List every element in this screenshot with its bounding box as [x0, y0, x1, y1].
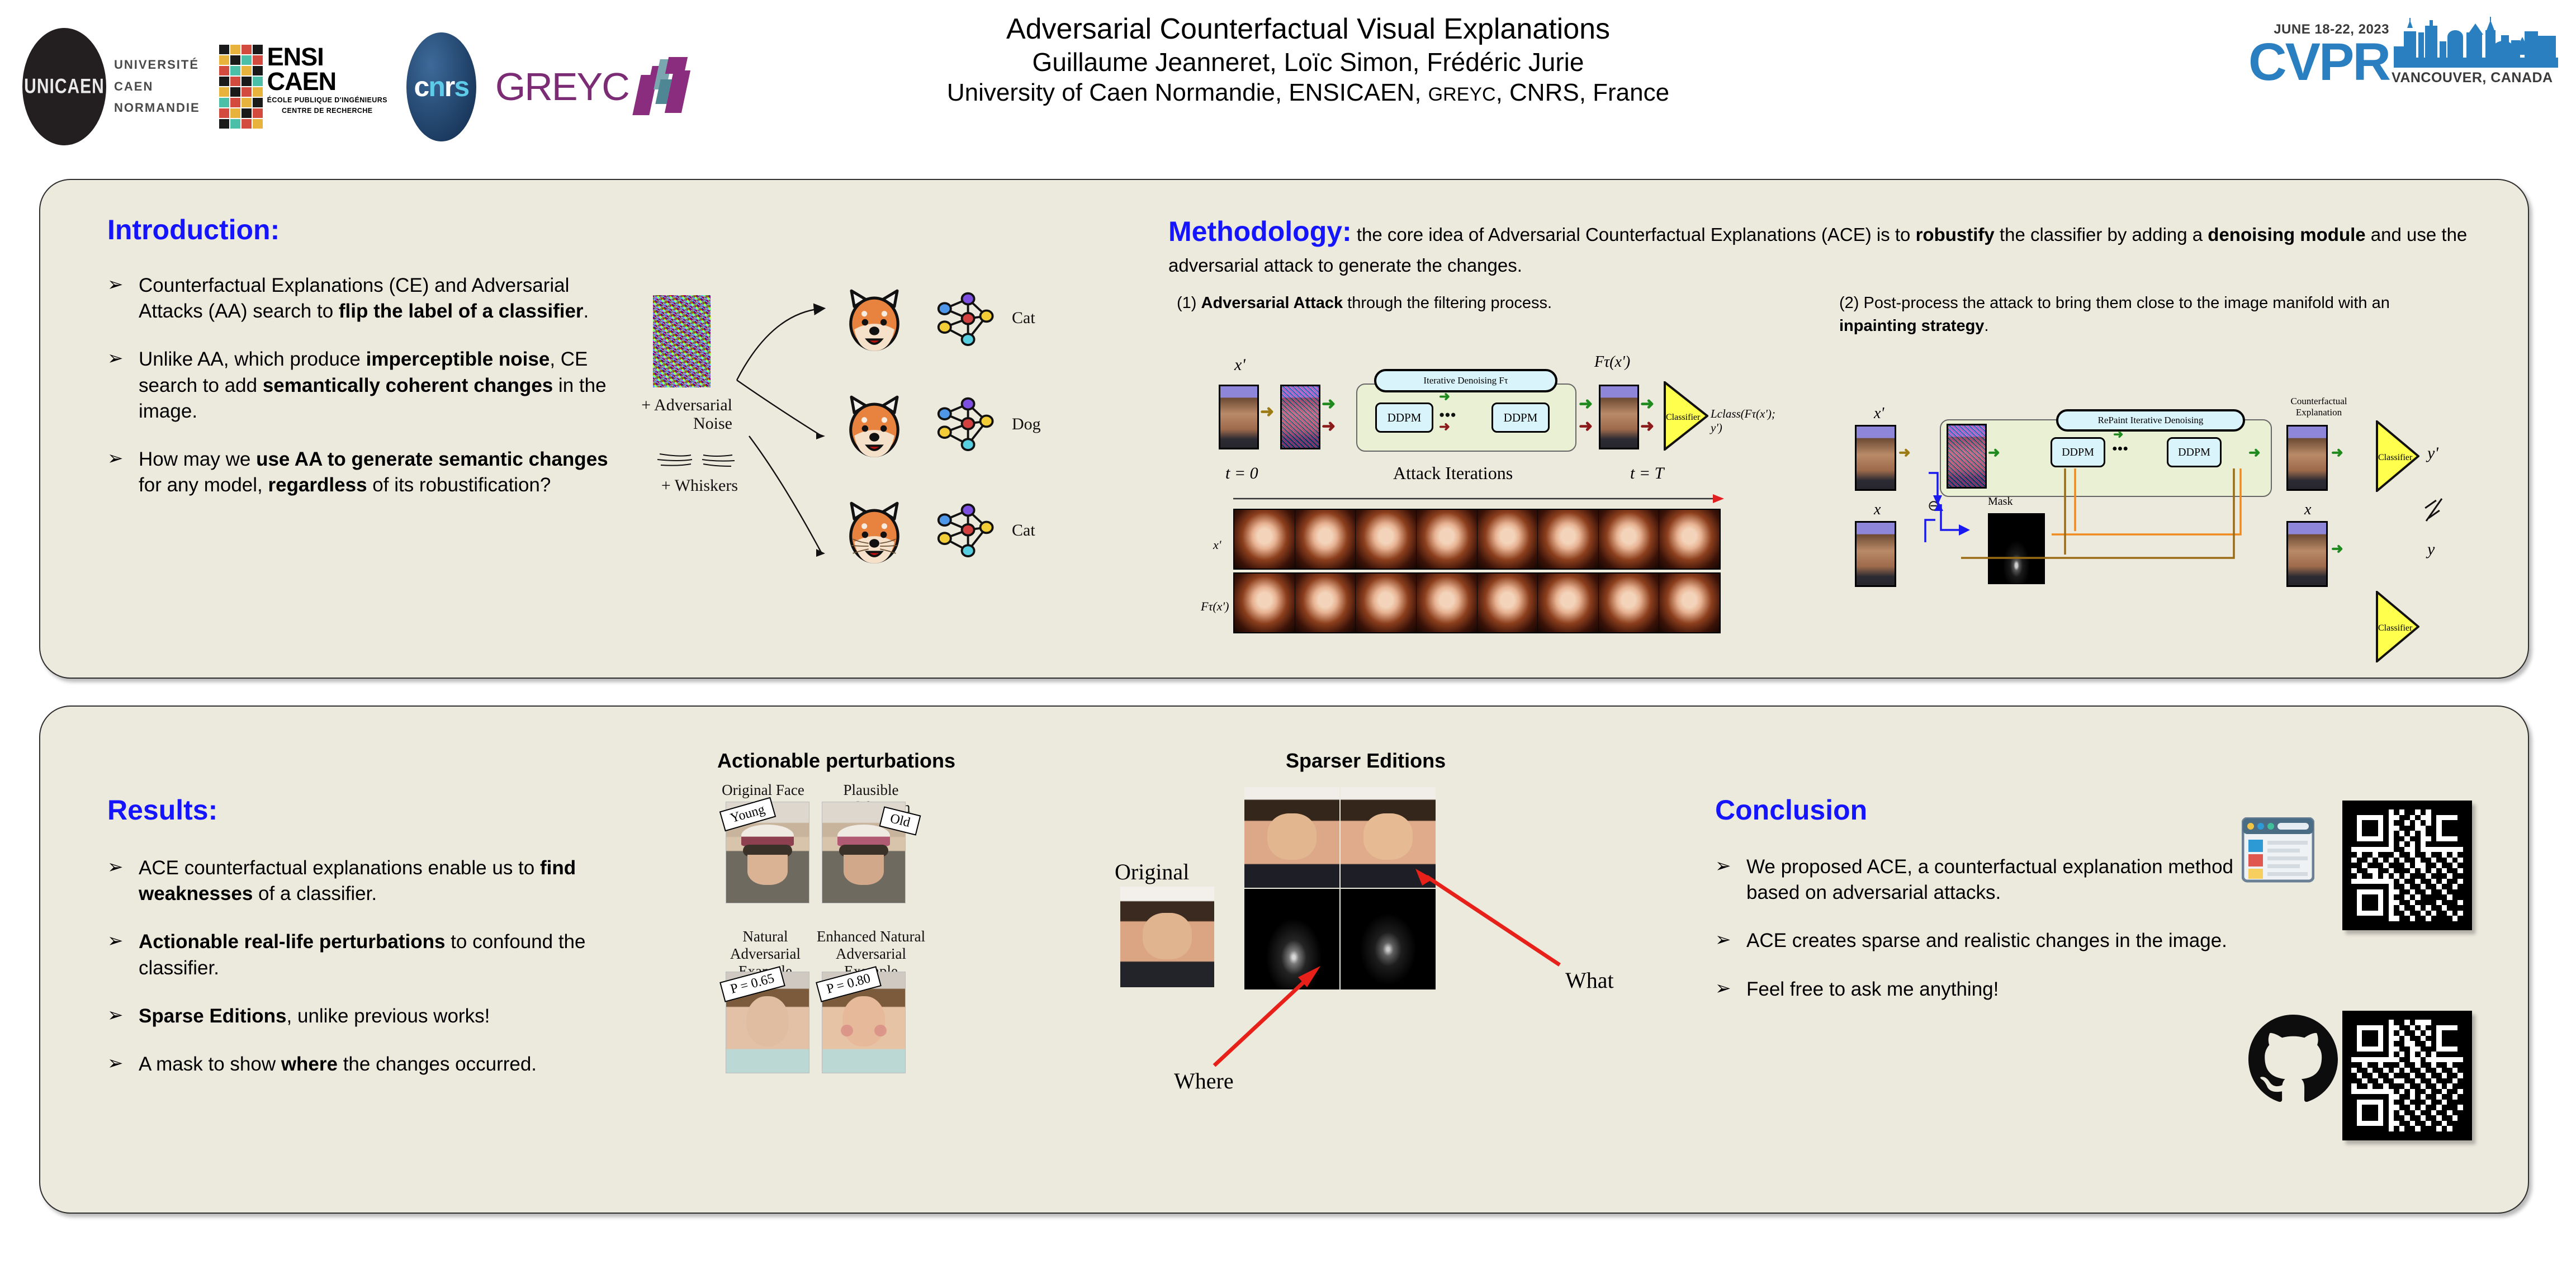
arrow-left-icon: ➜ [1579, 418, 1593, 435]
sparser-figure: Original What Where [1107, 777, 1677, 1191]
arrow-right-icon: ➜ [2331, 541, 2343, 556]
actionable-grid: Original Face Young Plausible Modificati… [721, 782, 1068, 1206]
list-item: ➢ACE creates sparse and realistic change… [1712, 928, 2243, 954]
attack-iterations-row-1 [1233, 509, 1721, 570]
logo-row: UNICAEN UNIVERSITÉ CAEN NORMANDIE ENSI [22, 28, 694, 145]
shiba-dog-face-with-whiskers-icon [839, 498, 910, 569]
shiba-dog-face-icon [839, 391, 910, 463]
methodology-lead-bold-1: robustify [1916, 224, 1995, 245]
sparser-heading: Sparser Editions [1286, 749, 1446, 773]
cell-caption-1: Original Face [721, 782, 805, 799]
step-2-number: (2) [1839, 294, 1864, 312]
diagram1-panel-title: Iterative Denoising Fτ [1374, 369, 1557, 392]
methodology-step-2: (2) Post-process the attack to bring the… [1839, 292, 2454, 337]
where-label: Where [1174, 1068, 1234, 1094]
list-item: ➢Sparse Editions, unlike previous works! [104, 1003, 652, 1029]
cnrs-wordmark: cnrs [414, 70, 469, 103]
methodology-lead-1: the core idea of Adversarial Counterfact… [1357, 224, 1916, 245]
project-webpage-qr-code[interactable] [2342, 801, 2472, 930]
list-item: ➢How may we use AA to generate semantic … [104, 447, 629, 498]
ddpm-block: DDPM [2167, 437, 2222, 467]
ddpm-block: DDPM [2051, 437, 2105, 467]
bullet-text: ACE creates sparse and realistic changes… [1746, 930, 2227, 951]
step-2-bold: inpainting strategy [1839, 317, 1984, 335]
methodology-heading: Methodology: [1168, 216, 1352, 247]
affiliation-post: , CNRS, France [1496, 79, 1670, 106]
ddpm-block: DDPM [1375, 402, 1433, 433]
neural-network-icon [934, 288, 995, 351]
unicaen-line-1: UNIVERSITÉ [114, 54, 200, 76]
adversarial-noise-image [653, 295, 711, 387]
ddpm-block: DDPM [1491, 402, 1550, 433]
list-item: ➢Counterfactual Explanations (CE) and Ad… [104, 273, 629, 324]
introduction-figure: + Adversarial Noise + Whiskers [643, 280, 1135, 615]
dog-image-row-1 [839, 285, 910, 359]
step-1-number: (1) [1177, 294, 1201, 312]
diagram1-ellipsis: ●●● [1439, 409, 1456, 420]
bullet-text: ACE counterfactual explanations enable u… [139, 857, 576, 905]
cvpr-city: VANCOUVER, CANADA [2392, 70, 2553, 86]
arrow-right-icon: ➜ [1988, 445, 2000, 460]
actionable-heading: Actionable perturbations [717, 749, 955, 773]
diagram1-noisy-image [1280, 385, 1320, 449]
bullet-text: Unlike AA, which produce imperceptible n… [139, 348, 607, 422]
sparser-cf-image-1 [1244, 787, 1339, 888]
arrow-right-icon: ➜ [2248, 445, 2261, 460]
methodology-diagram-2: x' RePaint Iterative Denoising ➜ ➜ DDPM … [1845, 386, 2521, 598]
arrow-right-icon: ➜ [1322, 396, 1336, 413]
unicaen-logo: UNICAEN UNIVERSITÉ CAEN NORMANDIE [22, 28, 200, 145]
diagram2-input-image [1855, 425, 1896, 491]
bullet-text: Actionable real-life perturbations to co… [139, 931, 585, 978]
diagram2-input-label: x' [1874, 405, 1884, 423]
webpage-icon[interactable] [2242, 817, 2314, 883]
ensicaen-sub-1: ÉCOLE PUBLIQUE D'INGÉNIEURS [267, 96, 387, 104]
poster-title: Adversarial Counterfactual Visual Explan… [777, 12, 1839, 46]
whiskers-label: + Whiskers [637, 476, 738, 495]
arrow-right-icon: ➜ [1579, 396, 1593, 413]
introduction-heading: Introduction: [107, 214, 280, 246]
where-annotation-arrow [1202, 962, 1330, 1073]
bullet-arrow-icon: ➢ [107, 275, 124, 294]
attack-row-1-label: x' [1213, 538, 1221, 552]
github-icon[interactable] [2248, 1015, 2338, 1104]
adversarial-noise-label: + Adversarial Noise [637, 396, 732, 433]
list-item: ➢ACE counterfactual explanations enable … [104, 855, 652, 907]
timeline-center-label: Attack Iterations [1393, 463, 1513, 484]
arrow-right-icon: ➜ [1898, 445, 1911, 460]
arrow-left-icon: ➜ [1322, 418, 1336, 435]
step-1-rest: through the filtering process. [1343, 294, 1552, 312]
bullet-text: Sparse Editions, unlike previous works! [139, 1005, 490, 1027]
affiliation-pre: University of Caen Normandie, ENSICAEN, [947, 79, 1428, 106]
attack-iterations-row-2 [1233, 572, 1721, 633]
counterfactual-output-label: Counterfactual Explanation [2274, 396, 2364, 418]
diagram1-output-label: Fτ(x') [1594, 353, 1630, 371]
neural-network-icon [934, 500, 995, 562]
bullet-text: A mask to show where the changes occurre… [139, 1053, 537, 1075]
classifier-label: Classifier [2378, 453, 2412, 463]
diagram1-clean-image [1219, 385, 1259, 449]
sparser-original-image [1120, 887, 1214, 987]
diagram2-bottom-input-label: x [2304, 501, 2311, 519]
diagram2-classifier-top: Classifier [2376, 420, 2576, 495]
ensicaen-word-ensi: ENSI [267, 45, 387, 69]
branch-arrows [732, 296, 833, 587]
cvpr-wordmark: CVPR [2248, 39, 2389, 87]
prediction-label-2: Dog [1012, 415, 1041, 434]
diagram2-classifier-bottom: Classifier [2376, 591, 2576, 665]
unicaen-line-3: NORMANDIE [114, 97, 200, 119]
diagram2-original-label: x [1874, 501, 1881, 519]
diagram2-bottom-image [2286, 521, 2328, 587]
dog-image-row-3 [839, 498, 910, 572]
arrow-left-icon: ➜ [1640, 418, 1654, 435]
qr-matrix [2351, 809, 2463, 921]
list-item: ➢Actionable real-life perturbations to c… [104, 929, 652, 981]
whiskers-icon [654, 447, 738, 476]
sparser-original-label: Original [1115, 859, 1189, 885]
arrow-right-icon: ➜ [2113, 428, 2123, 441]
methodology-lead: Methodology: the core idea of Adversaria… [1168, 211, 2476, 278]
github-repository-qr-code[interactable] [2342, 1011, 2472, 1140]
poster-authors: Guillaume Jeanneret, Loïc Simon, Frédéri… [777, 46, 1839, 78]
ensicaen-word-caen: CAEN [267, 69, 387, 94]
arrow-right-icon: ➜ [1439, 390, 1450, 404]
ensicaen-mosaic-icon [219, 45, 263, 129]
unicaen-wordmark: UNIVERSITÉ CAEN NORMANDIE [114, 54, 200, 119]
bullet-arrow-icon: ➢ [1715, 979, 1731, 998]
diagram2-ellipsis: ●●● [2112, 444, 2128, 454]
conclusion-heading: Conclusion [1715, 794, 1867, 826]
what-annotation-arrow [1409, 866, 1576, 973]
qr-matrix [2351, 1020, 2463, 1131]
title-block: Adversarial Counterfactual Visual Explan… [777, 12, 1839, 108]
attack-row-2-label: Fτ(x') [1201, 599, 1229, 614]
bullet-text: Counterfactual Explanations (CE) and Adv… [139, 274, 589, 322]
ensicaen-logo: ENSI CAEN ÉCOLE PUBLIQUE D'INGÉNIEURS CE… [219, 45, 387, 129]
bullet-arrow-icon: ➢ [107, 1054, 124, 1073]
arrow-left-icon: ➜ [1439, 420, 1450, 434]
methodology-lead-2: the classifier by adding a [1995, 224, 2208, 245]
poster-affiliation: University of Caen Normandie, ENSICAEN, … [777, 78, 1839, 108]
results-bullets: ➢ACE counterfactual explanations enable … [104, 855, 652, 1100]
bullet-arrow-icon: ➢ [107, 449, 124, 468]
diagram2-output-y-prime: y' [2427, 444, 2438, 463]
conclusion-bullets: ➢We proposed ACE, a counterfactual expla… [1712, 854, 2243, 1025]
bullet-arrow-icon: ➢ [107, 1006, 124, 1025]
greyc-squares-icon [632, 56, 694, 117]
diagram2-output-y: y [2427, 540, 2435, 559]
diagram2-panel-title: RePaint Iterative Denoising [2056, 409, 2245, 432]
prediction-label-1: Cat [1012, 309, 1035, 328]
bullet-text: Feel free to ask me anything! [1746, 978, 1999, 1000]
list-item: ➢Feel free to ask me anything! [1712, 977, 2243, 1002]
bullet-arrow-icon: ➢ [1715, 930, 1731, 949]
bullet-arrow-icon: ➢ [107, 349, 124, 368]
prediction-label-3: Cat [1012, 521, 1035, 540]
methodology-step-1: (1) Adversarial Attack through the filte… [1177, 292, 1758, 315]
introduction-bullets: ➢Counterfactual Explanations (CE) and Ad… [104, 273, 629, 520]
timeline-arrow [1233, 493, 1725, 504]
diagram2-original-image [1855, 521, 1896, 587]
diagram1-input-label: x' [1234, 356, 1246, 375]
step-2-rest: Post-process the attack to bring them cl… [1864, 294, 2390, 312]
diagram1-loss-label: Lclass(Fτ(x'); y') [1711, 407, 1775, 435]
list-item: ➢Unlike AA, which produce imperceptible … [104, 347, 629, 424]
affiliation-greyc: GREYC [1428, 84, 1496, 105]
classifier-label: Classifier [2378, 623, 2412, 633]
bullet-text: How may we use AA to generate semantic c… [139, 448, 608, 496]
list-item: ➢A mask to show where the changes occurr… [104, 1052, 652, 1077]
cvpr-logo: JUNE 18-22, 2023 CVPR VAN [2248, 16, 2559, 86]
bullet-arrow-icon: ➢ [107, 931, 124, 950]
arrow-right-icon: ➜ [2331, 445, 2343, 460]
methodology-diagram-1: x' ➜ ➜ ➜ Iterative Denoising Fτ DDPM ●●●… [1191, 358, 1772, 648]
unicaen-line-2: CAEN [114, 76, 200, 98]
arrow-right-icon: ➜ [1640, 396, 1654, 413]
greyc-wordmark: GREYC [495, 64, 629, 109]
timeline-end-label: t = T [1630, 464, 1664, 483]
repaint-feedback-arrows [1928, 468, 2341, 587]
dog-image-row-2 [839, 391, 910, 466]
ensicaen-sub-2: CENTRE DE RECHERCHE [267, 107, 387, 115]
step-1-bold: Adversarial Attack [1201, 294, 1343, 312]
bullet-arrow-icon: ➢ [107, 858, 124, 877]
poster-header: UNICAEN UNIVERSITÉ CAEN NORMANDIE ENSI [0, 0, 2576, 168]
bullet-arrow-icon: ➢ [1715, 856, 1731, 875]
timeline-start-label: t = 0 [1225, 464, 1258, 483]
unicaen-mark: UNICAEN [24, 75, 105, 99]
what-label: What [1565, 967, 1614, 993]
unicaen-emblem: UNICAEN [22, 28, 106, 145]
results-heading: Results: [107, 794, 217, 826]
cnrs-logo: cnrs [406, 32, 476, 141]
diagram1-output-image [1599, 385, 1639, 449]
list-item: ➢We proposed ACE, a counterfactual expla… [1712, 854, 2243, 906]
not-equal-icon [2421, 495, 2447, 527]
arrow-right-icon: ➜ [1260, 404, 1274, 420]
classifier-label: Classifier [1666, 413, 1700, 423]
bullet-text: We proposed ACE, a counterfactual explan… [1746, 856, 2233, 903]
step-2-tail: . [1984, 317, 1988, 335]
shiba-dog-face-icon [839, 285, 910, 357]
neural-network-icon [934, 394, 995, 456]
vancouver-skyline-icon [2392, 16, 2559, 69]
greyc-logo: GREYC [495, 56, 694, 117]
methodology-lead-bold-2: denoising module [2208, 224, 2365, 245]
